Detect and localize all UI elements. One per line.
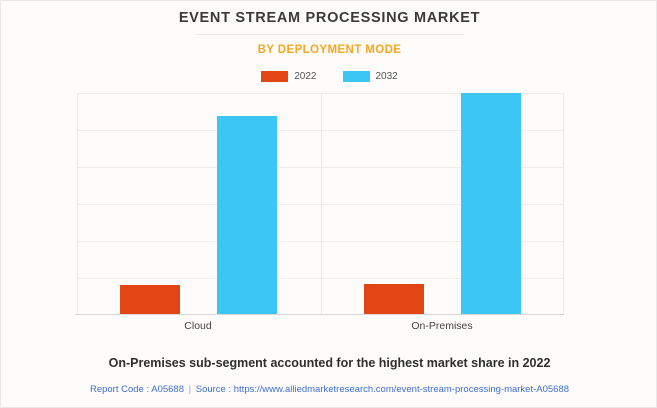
source-url-label[interactable]: Source : https://www.alliedmarketresearc… [196, 384, 569, 395]
category-separator [321, 93, 322, 314]
x-tick-label-on-premises: On-Premises [362, 320, 522, 332]
title-divider [196, 34, 464, 35]
chart-legend: 2022 2032 [1, 71, 657, 82]
chart-caption: On-Premises sub-segment accounted for th… [1, 356, 657, 370]
legend-swatch-icon [261, 71, 288, 82]
legend-swatch-icon [343, 71, 370, 82]
x-tick-label-cloud: Cloud [118, 320, 278, 332]
axis-line-right [563, 93, 564, 314]
report-code-label: Report Code : A05688 [90, 384, 184, 395]
source-line: Report Code : A05688 | Source : https://… [1, 384, 657, 395]
bar-cloud-2022[interactable] [120, 285, 180, 314]
legend-item-2022[interactable]: 2022 [261, 71, 316, 82]
bar-cloud-2032[interactable] [217, 116, 277, 314]
chart-figure: EVENT STREAM PROCESSING MARKET BY DEPLOY… [0, 0, 657, 408]
axis-line-left [77, 93, 78, 314]
plot-area [77, 93, 564, 314]
bar-on-premises-2022[interactable] [364, 284, 424, 314]
legend-label: 2032 [376, 71, 398, 82]
legend-label: 2022 [294, 71, 316, 82]
legend-item-2032[interactable]: 2032 [343, 71, 398, 82]
axis-baseline [75, 314, 564, 315]
source-separator: | [187, 384, 193, 395]
chart-subtitle: BY DEPLOYMENT MODE [1, 44, 657, 56]
page-title: EVENT STREAM PROCESSING MARKET [1, 10, 657, 26]
bar-on-premises-2032[interactable] [461, 93, 521, 314]
